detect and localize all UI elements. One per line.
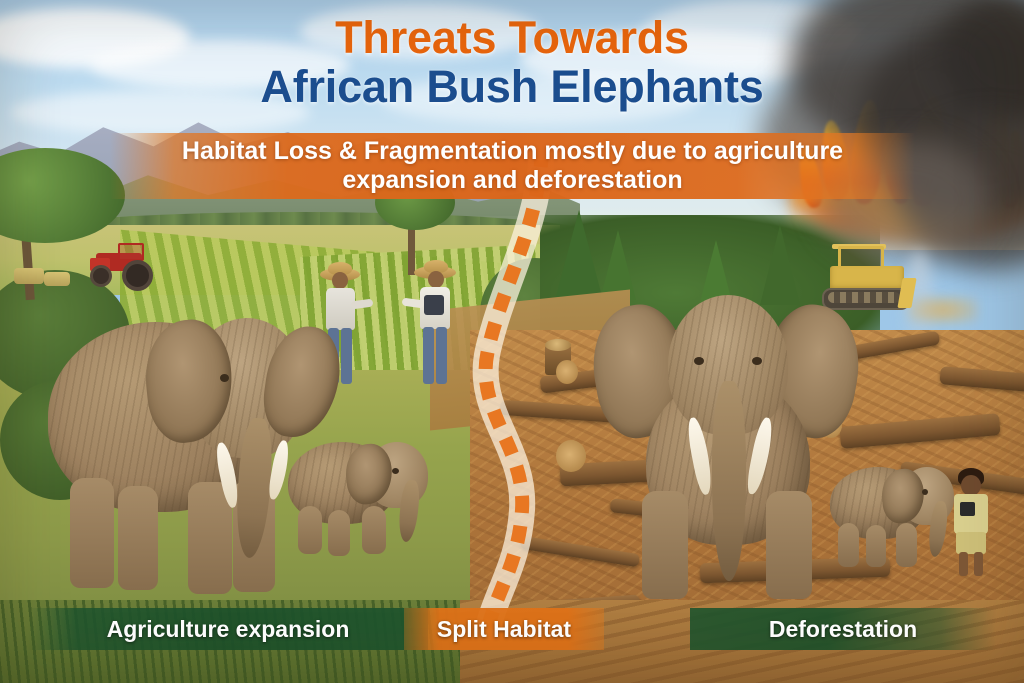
calf-leg: [866, 525, 886, 567]
elephant-trunk: [712, 381, 746, 581]
title-line-1: Threats Towards: [0, 14, 1024, 62]
log-cut-end: [556, 360, 578, 384]
calf-eye: [392, 468, 399, 474]
hay-bale: [44, 272, 70, 286]
calf-leg: [896, 523, 917, 567]
head: [961, 475, 981, 496]
leg: [959, 552, 968, 576]
poster-canvas: Threats Towards African Bush Elephants H…: [0, 0, 1024, 683]
camera: [960, 502, 975, 516]
red-tractor: [88, 243, 152, 285]
leg: [436, 327, 447, 384]
dust-cloud: [908, 296, 978, 324]
label-split-habitat: Split Habitat: [404, 608, 604, 650]
young-ranger-with-camera: [948, 468, 994, 580]
tractor-rear-wheel: [122, 260, 153, 291]
calf-leg: [362, 506, 386, 554]
elephant-leg: [70, 478, 114, 588]
farmer-right: [406, 262, 460, 390]
elephant-leg: [766, 491, 812, 599]
calf-leg: [298, 506, 322, 554]
subtitle-banner: Habitat Loss & Fragmentation mostly due …: [110, 133, 915, 199]
calf-leg: [328, 510, 350, 556]
arm-extended: [351, 299, 374, 310]
elephant-eye: [694, 357, 704, 365]
leg: [974, 552, 983, 576]
elephant-eye: [752, 357, 762, 365]
label-split-habitat-text: Split Habitat: [437, 616, 571, 643]
elephant-leg: [118, 486, 158, 590]
label-deforestation-text: Deforestation: [769, 616, 917, 643]
label-agriculture-expansion: Agriculture expansion: [28, 608, 428, 650]
head: [332, 272, 348, 289]
adult-elephant-right: [600, 285, 855, 605]
title-line-2: African Bush Elephants: [0, 62, 1024, 112]
hay-bale: [14, 268, 44, 284]
label-agriculture-expansion-text: Agriculture expansion: [107, 616, 350, 643]
calf-eye: [922, 489, 928, 495]
tractor-front-wheel: [90, 265, 112, 287]
khaki-shorts: [956, 532, 986, 554]
elephant-eye: [220, 374, 229, 382]
elephant-calf-left: [288, 428, 448, 558]
label-deforestation: Deforestation: [690, 608, 996, 650]
poster-title-block: Threats Towards African Bush Elephants: [0, 14, 1024, 112]
head: [428, 271, 444, 288]
leg: [423, 327, 434, 384]
log-cut-end: [556, 440, 586, 472]
tree-stump-top: [545, 339, 571, 351]
conifer-tree: [555, 210, 603, 300]
calf-leg: [838, 523, 859, 567]
tractor-cab: [118, 243, 144, 261]
subtitle-text: Habitat Loss & Fragmentation mostly due …: [110, 137, 915, 195]
vest: [424, 295, 444, 315]
elephant-leg: [642, 491, 688, 599]
